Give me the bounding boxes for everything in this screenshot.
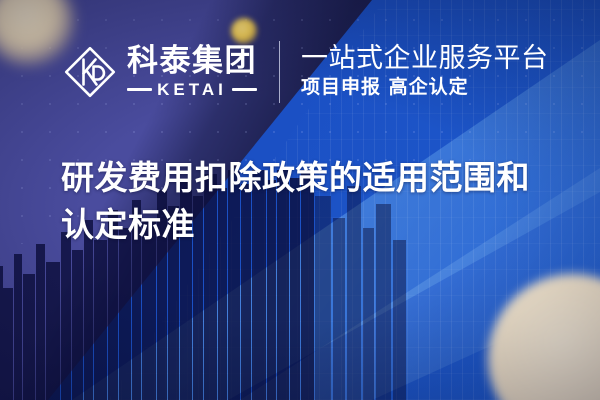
banner-content: 科泰集团 KETAI 一站式企业服务平台 项目申报 高企认定 研发费用扣除政策的… [0, 0, 600, 400]
tagline-main: 一站式企业服务平台 [301, 44, 549, 73]
headline-title: 研发费用扣除政策的适用范围和认定标准 [61, 155, 541, 249]
wordmark-rule-left [127, 88, 152, 91]
tagline: 一站式企业服务平台 项目申报 高企认定 [301, 44, 549, 100]
brand-name-en-row: KETAI [127, 81, 257, 98]
ketai-diamond-k-logo-icon [62, 44, 118, 100]
banner-header: 科泰集团 KETAI 一站式企业服务平台 项目申报 高企认定 [62, 41, 549, 103]
wordmark-rule-right [232, 88, 257, 91]
brand-logo[interactable]: 科泰集团 KETAI [62, 44, 257, 100]
promo-banner: 科泰集团 KETAI 一站式企业服务平台 项目申报 高企认定 研发费用扣除政策的… [0, 0, 600, 400]
tagline-sub: 项目申报 高企认定 [301, 76, 549, 100]
brand-name-en: KETAI [157, 81, 227, 98]
header-vertical-divider [279, 41, 280, 103]
brand-wordmark: 科泰集团 KETAI [127, 46, 257, 98]
brand-name-cn: 科泰集团 [127, 46, 257, 77]
